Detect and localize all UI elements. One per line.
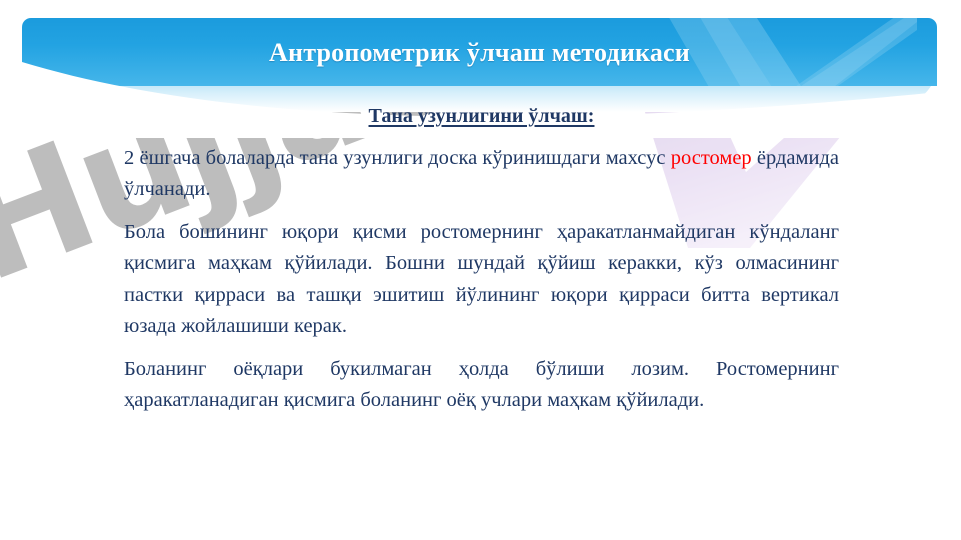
section-heading: Тана узунлигини ўлчаш: [124, 104, 839, 129]
paragraph-1: 2 ёшгача болаларда тана узунлиги доска к… [124, 143, 839, 205]
paragraph-2: Бола бошининг юқори қисми ростомернинг ҳ… [124, 217, 839, 342]
slide-content: Тана узунлигини ўлчаш: 2 ёшгача болалард… [124, 104, 839, 416]
paragraph-1-highlight: ростомер [671, 147, 752, 169]
paragraph-1-before: 2 ёшгача болаларда тана узунлиги доска к… [124, 147, 671, 169]
presentation-slide: Hujjat Антропометрик ўлчаш методикаси Та… [0, 0, 961, 540]
page-title: Антропометрик ўлчаш методикаси [22, 38, 937, 68]
paragraph-3: Боланинг оёқлари букилмаган ҳолда бўлиши… [124, 354, 839, 416]
